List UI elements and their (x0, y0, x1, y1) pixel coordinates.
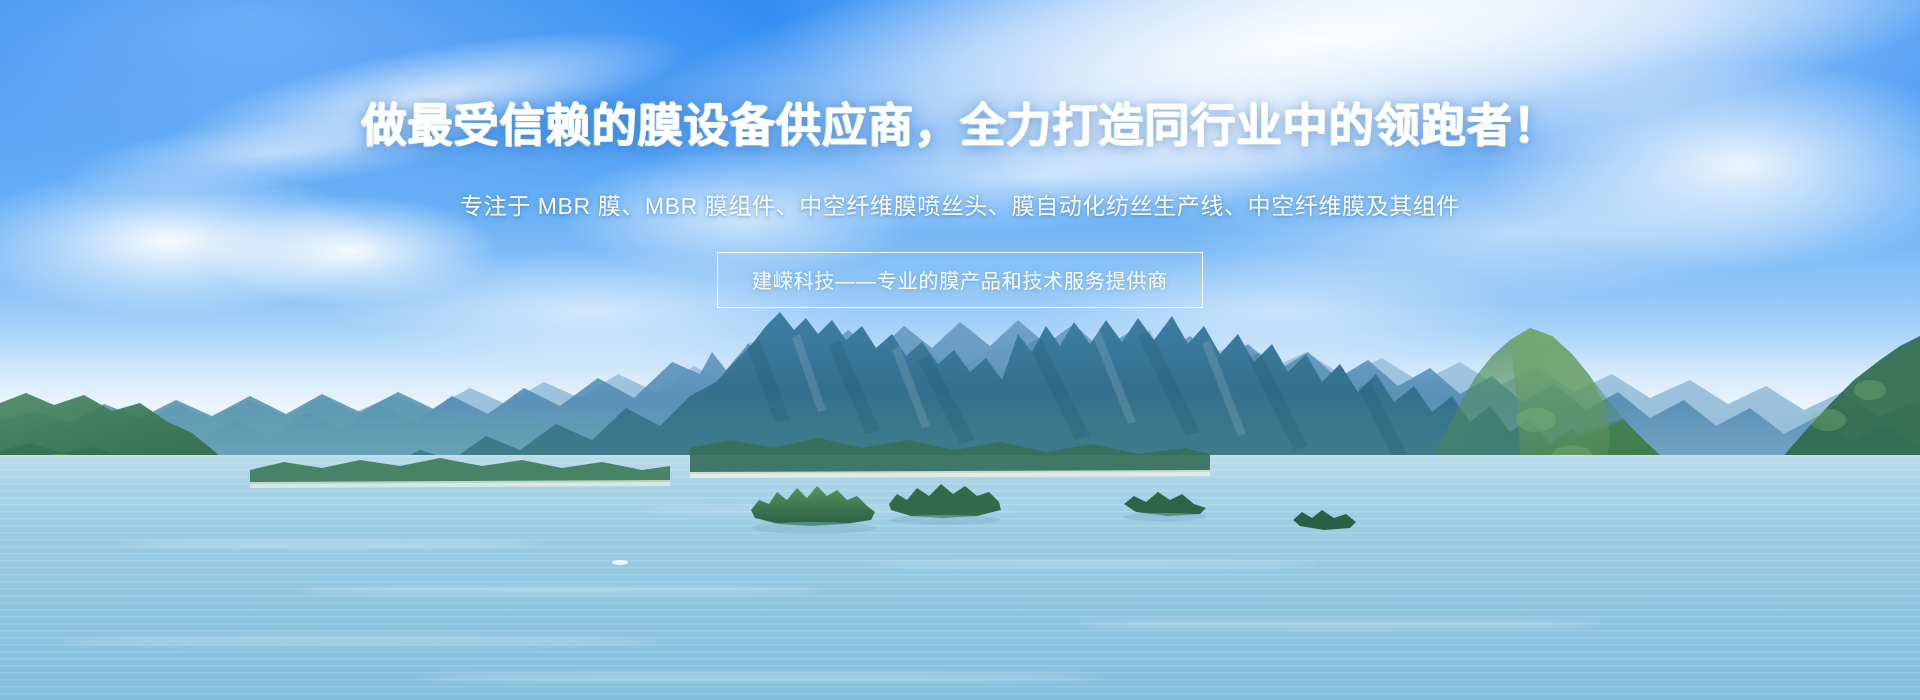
water-streak (300, 586, 820, 595)
water-streak (120, 540, 540, 548)
water-streak (860, 560, 1320, 568)
hero-banner: 做最受信赖的膜设备供应商，全力打造同行业中的领跑者！ 专注于 MBR 膜、MBR… (0, 0, 1920, 700)
island-small (885, 468, 1005, 530)
water-streak (1080, 620, 1600, 629)
shoreline-strip-left (250, 442, 670, 492)
cloud-puff (980, 40, 1460, 230)
water-streak (420, 672, 1100, 683)
island-tiny (1290, 500, 1360, 536)
cloud-puff (1480, 60, 1920, 270)
island-tiny (1120, 478, 1210, 524)
banner-tagline-box[interactable]: 建嵘科技——专业的膜产品和技术服务提供商 (717, 252, 1203, 308)
boat (612, 560, 628, 565)
water-streak (60, 636, 660, 646)
island-small (745, 470, 880, 540)
